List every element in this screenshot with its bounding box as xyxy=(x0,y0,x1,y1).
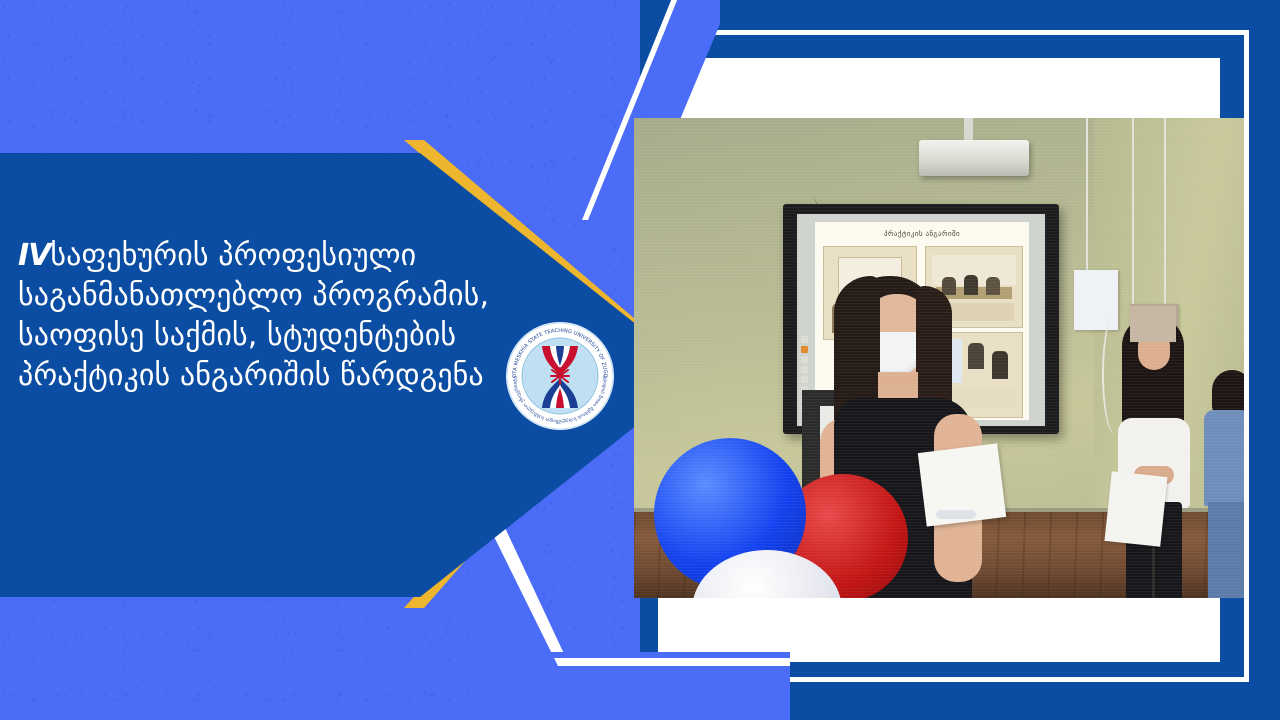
university-seal: SHOTA MESKHIA STATE TEACHING UNIVERSITY … xyxy=(504,320,616,432)
event-photograph: პრაქტიკის ანგარიში xyxy=(634,118,1244,598)
page-title: IVსაფეხურის პროფესიული საგანმანათლებლო პ… xyxy=(18,236,538,396)
presentation-slide: IVსაფეხურის პროფესიული საგანმანათლებლო პ… xyxy=(0,0,1280,720)
headline-body-text: საფეხურის პროფესიული საგანმანათლებლო პრო… xyxy=(18,238,499,393)
photo-grain-overlay xyxy=(634,118,1244,598)
headline-roman-numeral: IV xyxy=(18,238,50,273)
